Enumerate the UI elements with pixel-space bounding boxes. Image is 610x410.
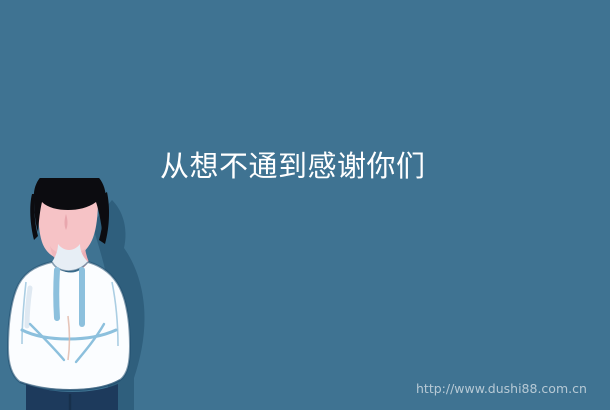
watermark-url: http://www.dushi88.com.cn	[416, 381, 587, 397]
person-illustration-svg	[0, 178, 160, 410]
image-canvas: 从想不通到感谢你们 http://www.dushi88.com.cn	[0, 0, 610, 410]
drawstring-left	[56, 270, 57, 318]
person-illustration	[0, 178, 160, 410]
page-title: 从想不通到感谢你们	[160, 148, 460, 184]
sleeve-highlight	[27, 288, 30, 326]
